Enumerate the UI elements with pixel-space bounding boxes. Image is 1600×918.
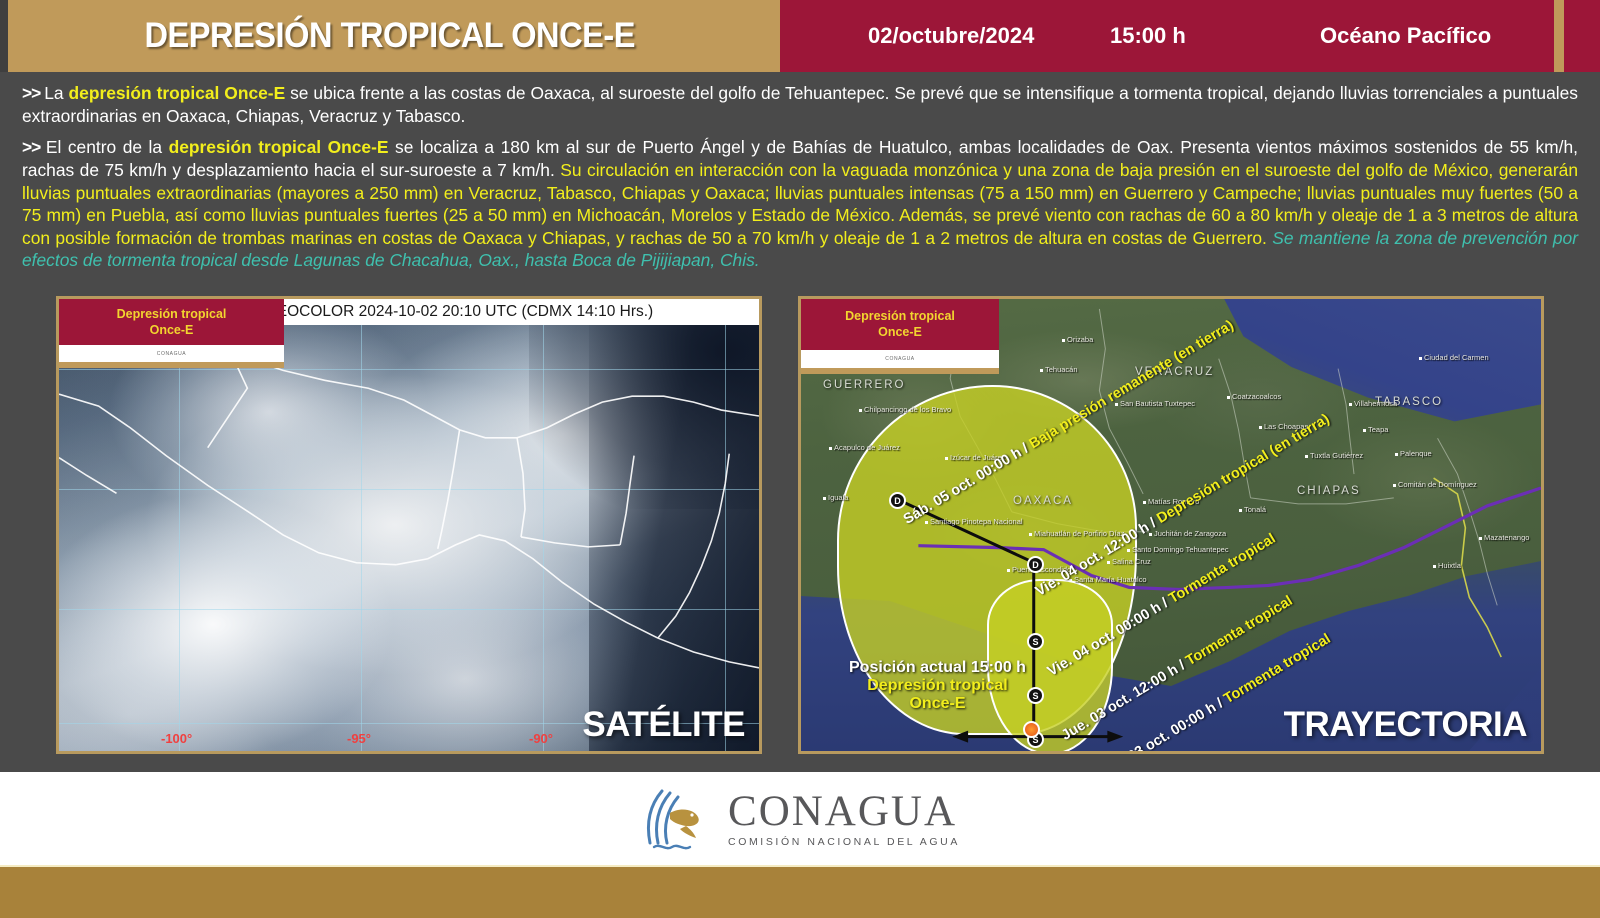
satellite-storm-badge: Depresión tropical Once-E CONAGUA [59, 299, 284, 368]
city-label-mazatenango: Mazatenango [1484, 533, 1529, 542]
track-point-fri04-12[interactable]: D [1027, 556, 1044, 573]
panels-row: GOES-16 ABI GEOCOLOR 2024-10-02 20:10 UT… [0, 296, 1600, 760]
city-label-miahuatlan: Miahuatlán de Porfirio Díaz [1034, 529, 1124, 538]
satellite-badge-brand: CONAGUA [157, 351, 186, 357]
city-label-tonala: Tonalá [1244, 505, 1266, 514]
city-label-palenque: Palenque [1400, 449, 1432, 458]
coord-label-90w: -90° [529, 731, 553, 746]
trajectory-badge-brand: CONAGUA [885, 356, 914, 362]
current-position-annotation: Posición actual 15:00 h Depresión tropic… [849, 659, 1026, 713]
satellite-badge-crest: Depresión tropical Once-E [59, 299, 284, 345]
city-label-ciudad-del-carmen: Ciudad del Carmen [1424, 353, 1489, 362]
para2-marker: >> [22, 137, 46, 157]
header-meta-area: 02/octubre/2024 15:00 h Océano Pacífico [780, 0, 1600, 72]
trajectory-badge-subbar: CONAGUA [801, 350, 999, 368]
track-point-fri04-00[interactable]: S [1027, 633, 1044, 650]
trajectory-panel[interactable]: D D S S S Sáb. 05 oct. 00:00 h / Baja pr… [798, 296, 1544, 754]
city-label-villahermosa: Villahermosa [1354, 399, 1397, 408]
current-position-time: Posición actual 15:00 h [849, 659, 1026, 677]
para2-highlight: depresión tropical Once-E [169, 137, 389, 157]
bulletin-paragraph-2: >> El centro de la depresión tropical On… [22, 136, 1578, 272]
trajectory-badge-line2: Once-E [807, 324, 993, 340]
city-label-orizaba: Orizaba [1067, 335, 1093, 344]
para1-seg1: La [44, 83, 68, 103]
state-label-chiapas: CHIAPAS [1297, 485, 1361, 497]
para1-marker: >> [22, 83, 44, 103]
city-label-comitan: Comitán de Domínguez [1398, 480, 1477, 489]
header-left-edge [0, 0, 8, 72]
page-title: DEPRESIÓN TROPICAL ONCE-E [145, 16, 636, 56]
coord-label-100w: -100° [161, 731, 192, 746]
city-label-salina-cruz: Salina Cruz [1112, 557, 1151, 566]
bulletin-text: >> La depresión tropical Once-E se ubica… [0, 72, 1600, 278]
trajectory-storm-badge: Depresión tropical Once-E CONAGUA [801, 299, 999, 374]
trajectory-badge-crest: Depresión tropical Once-E [801, 299, 999, 350]
footer-logo-area: CONAGUA COMISIÓN NACIONAL DEL AGUA [0, 772, 1600, 865]
city-label-chilpancingo: Chilpancingo de los Bravo [864, 405, 951, 414]
coord-label-95w: -95° [347, 731, 371, 746]
city-label-tehuacan: Tehuacán [1045, 365, 1078, 374]
trajectory-watermark: TRAYECTORIA [1284, 705, 1527, 745]
city-label-huixtla: Huixtla [1438, 561, 1461, 570]
city-label-juchitan: Juchitán de Zaragoza [1154, 529, 1226, 538]
track-point-sat05[interactable]: D [889, 492, 906, 509]
conagua-wordmark: CONAGUA COMISIÓN NACIONAL DEL AGUA [728, 790, 960, 848]
city-label-iguala: Iguala [828, 493, 848, 502]
track-point-thu03-12[interactable]: S [1027, 687, 1044, 704]
trajectory-badge-line1: Depresión tropical [807, 308, 993, 324]
city-label-tuxtepec: San Bautista Tuxtepec [1120, 399, 1195, 408]
para1-highlight: depresión tropical Once-E [69, 83, 286, 103]
satellite-badge-line1: Depresión tropical [65, 307, 278, 323]
state-label-guerrero: GUERRERO [823, 379, 905, 391]
satellite-badge-line2: Once-E [65, 323, 278, 339]
header-date: 02/octubre/2024 [868, 23, 1034, 49]
para2-seg1: El centro de la [46, 137, 169, 157]
trajectory-badge-gold-strip [801, 368, 999, 374]
city-label-acapulco: Acapulco de Juárez [834, 443, 900, 452]
satellite-watermark: SATÉLITE [582, 705, 745, 745]
city-label-tehuantepec: Santo Domingo Tehuantepec [1132, 545, 1229, 554]
city-label-huatulco: Santa María Huatulco [1074, 575, 1147, 584]
conagua-brand-name: CONAGUA [728, 790, 960, 833]
city-label-tuxtla-gutierrez: Tuxtla Gutiérrez [1310, 451, 1363, 460]
city-label-teapa: Teapa [1368, 425, 1388, 434]
header-time: 15:00 h [1110, 23, 1186, 49]
bulletin-paragraph-1: >> La depresión tropical Once-E se ubica… [22, 82, 1578, 127]
current-position-name-1: Depresión tropical [849, 677, 1026, 695]
header-title-area: DEPRESIÓN TROPICAL ONCE-E [0, 0, 780, 72]
current-position-name-2: Once-E [849, 695, 1026, 713]
header-ocean-basin: Océano Pacífico [1320, 23, 1491, 49]
track-point-current-position[interactable] [1023, 721, 1040, 738]
header-bar: DEPRESIÓN TROPICAL ONCE-E 02/octubre/202… [0, 0, 1600, 72]
conagua-brand-subtitle: COMISIÓN NACIONAL DEL AGUA [728, 836, 960, 848]
conagua-logo: CONAGUA COMISIÓN NACIONAL DEL AGUA [640, 783, 960, 855]
satellite-panel[interactable]: GOES-16 ABI GEOCOLOR 2024-10-02 20:10 UT… [56, 296, 762, 754]
city-label-coatzacoalcos: Coatzacoalcos [1232, 392, 1281, 401]
satellite-badge-subbar: CONAGUA [59, 345, 284, 362]
city-label-pinotepa: Santiago Pinotepa Nacional [930, 517, 1023, 526]
state-label-oaxaca: OAXACA [1013, 495, 1073, 507]
footer-gold-bar [0, 865, 1600, 918]
satellite-badge-gold-strip [59, 362, 284, 368]
conagua-eagle-water-icon [640, 783, 712, 855]
header-accent-bar [1554, 0, 1564, 72]
